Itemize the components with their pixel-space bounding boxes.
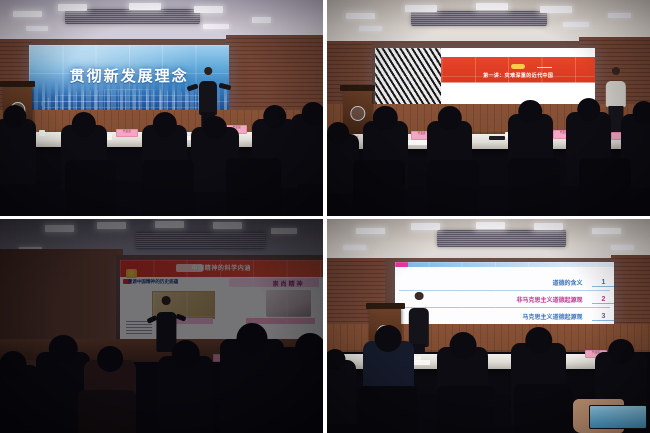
slide-top-bar	[395, 262, 615, 267]
attendee-head	[519, 100, 543, 124]
microphone	[489, 136, 505, 140]
ceiling-light	[359, 26, 382, 31]
red-banner: 第一讲：灾难深重的近代中国	[441, 48, 595, 104]
ceiling-light	[346, 13, 375, 19]
globe-graphic	[41, 89, 217, 110]
attendee-head	[295, 333, 323, 363]
podium-top	[366, 303, 405, 309]
attendee-head	[236, 323, 267, 354]
historical-photo	[375, 48, 441, 104]
chair	[142, 160, 194, 216]
ceiling-light	[476, 222, 505, 228]
ceiling-light	[13, 11, 42, 17]
slide-title: 第一讲：灾难深重的近代中国	[441, 72, 595, 79]
chair	[427, 160, 479, 216]
podium-top	[0, 81, 35, 87]
chair	[78, 390, 136, 433]
ceiling-light	[26, 26, 49, 31]
panel-top-right: 第一讲：灾难深重的近代中国 代表席 代表席	[327, 0, 650, 216]
presenter-body	[606, 81, 626, 107]
ceiling-light	[97, 222, 126, 228]
phone-screen	[590, 406, 646, 428]
name-card: 代表席	[116, 129, 137, 138]
presenter-head	[205, 67, 213, 75]
agenda-number: 2	[592, 296, 614, 304]
attendee-head	[153, 112, 177, 136]
led-video-wall: 中国精神的科学内涵 溯源中国精神的历史底蕴 崇尚精神	[120, 260, 323, 339]
agenda-label: 马克思主义道德起源观	[522, 312, 582, 321]
chair	[437, 386, 495, 433]
attendee-head	[49, 335, 78, 364]
ceiling-light	[592, 228, 621, 234]
chair	[353, 160, 405, 216]
ceiling-vent	[65, 9, 201, 24]
institution-seal-icon	[350, 106, 365, 121]
ceiling-light	[476, 3, 508, 9]
ceiling-vent	[411, 11, 547, 26]
ceiling-light	[563, 22, 589, 27]
divider-rule	[537, 67, 552, 68]
presenter-head	[415, 292, 424, 301]
agenda-number: 3	[592, 313, 614, 321]
ceiling-light	[252, 17, 271, 22]
chair	[579, 158, 631, 216]
ceiling-light	[540, 6, 572, 12]
podium-top	[340, 85, 375, 90]
ceiling-light	[58, 4, 87, 10]
attendee-head	[438, 106, 462, 130]
agenda-label: 非马克思主义道德起源观	[516, 295, 582, 304]
ceiling-light	[129, 3, 161, 9]
ceiling-light	[356, 228, 385, 234]
panel-top-left: 贯彻新发展理念 代表席 代表席	[0, 0, 323, 216]
chair	[226, 158, 281, 216]
attendee-head	[263, 105, 287, 129]
photo-collage: 贯彻新发展理念 代表席 代表席	[0, 0, 650, 433]
ceiling-light	[608, 13, 631, 18]
emblem-icon	[511, 64, 525, 69]
presenter-body	[199, 81, 217, 115]
chair	[514, 384, 572, 433]
agenda-row: 道德的含义 1	[395, 274, 615, 291]
attendee-head	[525, 327, 552, 354]
panel-bottom-left: 中国精神的科学内涵 溯源中国精神的历史底蕴 崇尚精神	[0, 219, 323, 433]
slide-title: 中国精神的科学内涵	[120, 263, 323, 272]
agenda-number: 1	[592, 279, 614, 287]
ceiling-light	[213, 222, 242, 228]
chair	[508, 158, 560, 216]
attendee-head	[449, 332, 476, 359]
smartphone-recording	[589, 405, 647, 429]
attendee	[0, 365, 39, 433]
slide-subtitle: 溯源中国精神的历史底蕴	[128, 279, 179, 285]
attendee-head	[327, 122, 349, 144]
panel-bottom-right: 道德的含义 1 非马克思主义道德起源观 2 马克思主义道德起源观 3	[327, 219, 650, 433]
ceiling-light	[411, 223, 440, 229]
attendee	[291, 114, 323, 183]
ceiling-vent	[136, 232, 265, 249]
ceiling-light	[194, 6, 223, 12]
attendee-head	[302, 102, 323, 125]
ceiling-light	[534, 223, 563, 229]
attendee-head	[373, 106, 397, 130]
attendee	[327, 360, 356, 424]
chair	[359, 386, 417, 433]
ceiling-light	[45, 225, 74, 231]
ceiling-light	[155, 221, 184, 227]
attendee-head	[327, 349, 346, 370]
attendee	[278, 347, 323, 433]
slide-section-title: 崇尚精神	[273, 279, 305, 288]
ceiling-vent	[437, 230, 566, 247]
attendee-head	[3, 105, 27, 129]
slide-content: 第一讲：灾难深重的近代中国	[375, 48, 595, 104]
portrait-image	[266, 290, 311, 317]
chair	[65, 160, 117, 216]
ceiling-light	[343, 245, 366, 250]
attendee-head	[632, 101, 650, 124]
water-cup	[107, 134, 113, 140]
name-card-label: 代表席	[117, 130, 136, 134]
attendee-head	[171, 340, 200, 369]
ceiling-light	[203, 24, 229, 29]
attendee	[0, 119, 36, 184]
attendee-head	[577, 98, 601, 122]
presenter-head	[612, 67, 620, 75]
attendee-head	[203, 116, 227, 140]
presenter-body	[409, 308, 429, 346]
led-video-wall: 第一讲：灾难深重的近代中国	[375, 48, 595, 104]
ceiling-light	[271, 228, 297, 234]
slide-content: 中国精神的科学内涵 溯源中国精神的历史底蕴 崇尚精神	[120, 260, 323, 339]
water-cup	[39, 130, 45, 136]
agenda-label: 道德的含义	[552, 278, 582, 287]
attendee-head	[608, 339, 634, 365]
attendee	[220, 339, 285, 433]
presenter-head	[162, 296, 171, 305]
attendee-head	[375, 325, 402, 352]
attendee-head	[97, 346, 123, 372]
ceiling-light	[405, 5, 437, 11]
attendee-head	[0, 351, 26, 378]
attendee	[158, 356, 213, 433]
attendee-head	[72, 112, 96, 136]
ceiling-light	[611, 245, 634, 250]
